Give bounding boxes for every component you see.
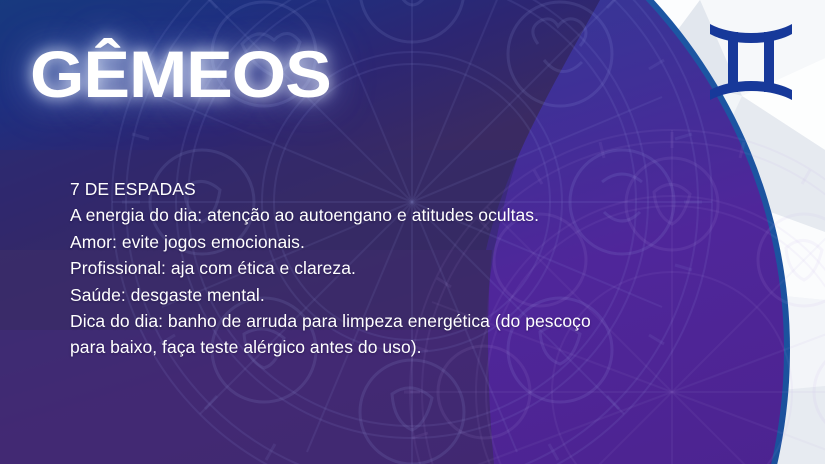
text-line-professional: Profissional: aja com ética e clareza. — [70, 255, 600, 281]
horoscope-text: 7 DE ESPADAS A energia do dia: atenção a… — [70, 176, 600, 361]
text-line-health: Saúde: desgaste mental. — [70, 282, 600, 308]
horoscope-card: GÊMEOS 7 DE ESPADAS A energia do dia: at… — [0, 0, 825, 464]
text-line-tip: Dica do dia: banho de arruda para limpez… — [70, 308, 600, 361]
text-line-card: 7 DE ESPADAS — [70, 176, 600, 202]
text-line-energy: A energia do dia: atenção ao autoengano … — [70, 202, 600, 228]
text-line-love: Amor: evite jogos emocionais. — [70, 229, 600, 255]
gemini-symbol-icon — [708, 14, 794, 110]
sign-title: GÊMEOS — [30, 38, 331, 110]
